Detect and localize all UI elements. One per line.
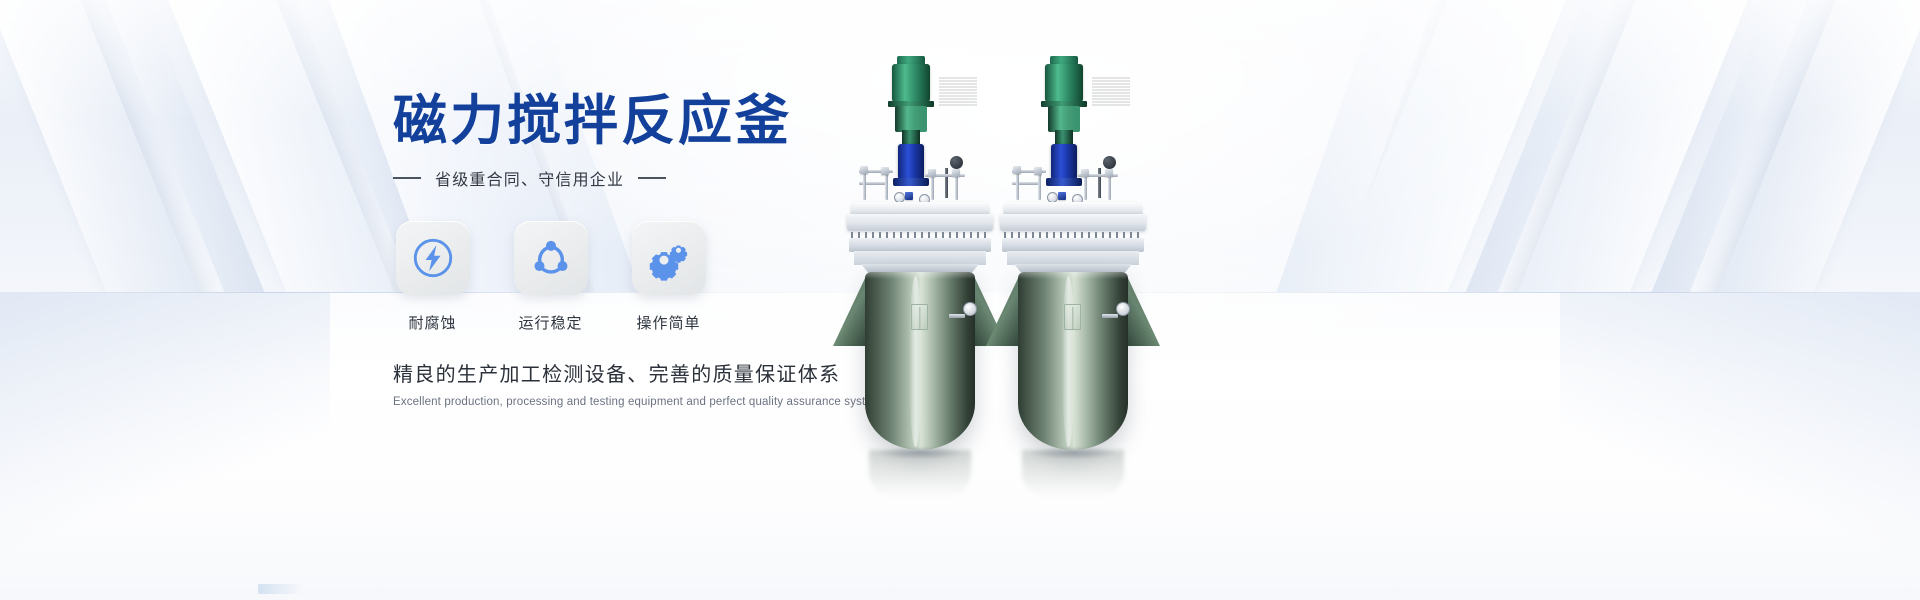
vessel-shadow — [859, 444, 981, 462]
vessel-lid-band-lower — [849, 238, 991, 252]
feature-label: 运行稳定 — [518, 312, 582, 333]
vessel-body — [1018, 272, 1128, 450]
vessel-lid-skirt — [854, 251, 986, 265]
feature-icon-tile — [396, 221, 470, 295]
vessel-lid-band — [1000, 214, 1146, 231]
motor-body — [892, 64, 930, 102]
hero-banner: 磁力搅拌反应釜 省级重合同、守信用企业 耐腐蚀 — [0, 0, 1920, 600]
pipe — [1108, 174, 1111, 200]
side-gauge — [963, 302, 977, 316]
gearbox — [895, 106, 927, 132]
valve — [860, 166, 868, 174]
pipe — [1016, 170, 1019, 200]
magnetic-stirring-reactor-right — [998, 56, 1148, 476]
valve — [905, 192, 913, 200]
vessel-nameplate — [1064, 304, 1081, 330]
side-port — [949, 314, 965, 318]
pipe — [1084, 174, 1087, 200]
vessel-body — [865, 272, 975, 450]
motor-cooling-fins — [1092, 76, 1130, 106]
valve — [952, 169, 960, 177]
feature-label: 操作简单 — [636, 312, 700, 333]
watermark-hint — [258, 584, 302, 594]
pipe — [931, 174, 934, 200]
dash-left-icon — [393, 177, 421, 179]
valve — [1105, 169, 1113, 177]
magnetic-stirring-reactor-left — [845, 56, 995, 476]
valve — [1058, 192, 1066, 200]
valve — [928, 169, 936, 177]
vessel-highlight — [1062, 276, 1075, 447]
vessel-lid-band-lower — [1002, 238, 1144, 252]
lightning-bolt-circle-icon — [410, 235, 456, 281]
gearbox — [1048, 106, 1080, 132]
vessel-rim — [865, 272, 975, 279]
pipe — [863, 170, 866, 200]
pipe — [1038, 172, 1041, 200]
vessel-shadow — [1012, 444, 1134, 462]
share-nodes-icon — [528, 235, 574, 281]
support-bracket-right — [1126, 274, 1160, 346]
feature-label: 耐腐蚀 — [408, 312, 456, 333]
double-gear-icon — [645, 235, 692, 282]
feature-item-stable-operation[interactable]: 运行稳定 — [511, 221, 590, 333]
product-image-group — [845, 56, 1205, 476]
subtitle-text: 省级重合同、守信用企业 — [435, 166, 624, 190]
side-gauge — [1116, 302, 1130, 316]
motor-body — [1045, 64, 1083, 102]
vessel-lid-skirt — [1007, 251, 1139, 265]
motor-cooling-fins — [939, 76, 977, 106]
pipe — [955, 174, 958, 200]
feature-icon-tile — [632, 221, 706, 295]
feature-item-corrosion-resistant[interactable]: 耐腐蚀 — [393, 221, 472, 333]
side-port — [1102, 314, 1118, 318]
dash-right-icon — [638, 177, 666, 179]
pipe — [885, 172, 888, 200]
vessel-highlight — [909, 276, 922, 447]
valve — [881, 167, 889, 175]
feature-icon-tile — [514, 221, 588, 295]
valve — [1013, 166, 1021, 174]
vessel-lid-band — [847, 214, 993, 231]
vessel-nameplate — [911, 304, 928, 330]
vessel-rim — [1018, 272, 1128, 279]
valve — [1034, 167, 1042, 175]
valve — [1081, 169, 1089, 177]
feature-item-simple-operation[interactable]: 操作简单 — [629, 221, 708, 333]
